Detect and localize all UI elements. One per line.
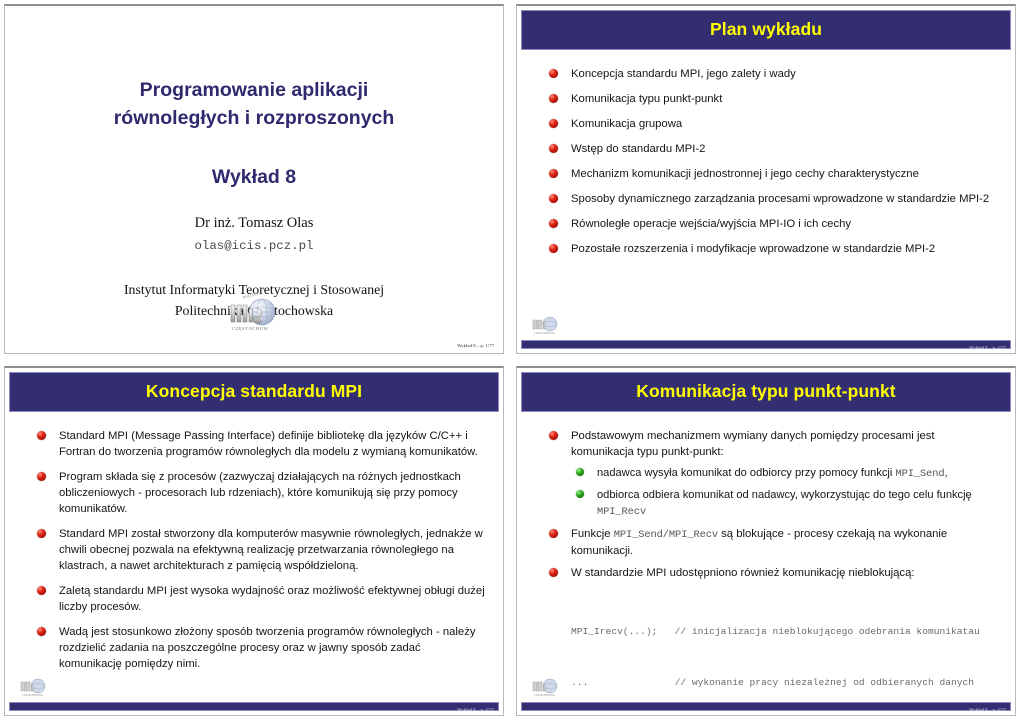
slide-body: Podstawowym mechanizmem wymiany danych p…	[517, 412, 1015, 691]
list-item-text: Wadą jest stosunkowo złożony sposób twor…	[59, 626, 476, 670]
iitis-logo-icon: CZĘSTOCHOW POLITECHNIKA	[222, 293, 286, 339]
list-item-text: Standard MPI został stworzony dla komput…	[59, 528, 483, 572]
list-item: Funkcje MPI_Send/MPI_Recv są blokujące -…	[543, 526, 997, 559]
slide-body: Standard MPI (Message Passing Interface)…	[5, 412, 503, 691]
red-sphere-bullet-icon	[549, 94, 558, 103]
red-sphere-bullet-icon	[549, 169, 558, 178]
code-line: ... // wykonanie pracy niezależnej od od…	[571, 674, 997, 691]
slide-footer-3: Wykład 8 – p. 3/77	[457, 707, 494, 712]
list-item: Komunikacja grupowa	[543, 116, 997, 132]
sub-list-item: nadawca wysyła komunikat do odbiorcy prz…	[571, 465, 997, 482]
sub-item-suffix: ,	[945, 467, 948, 479]
list-item-text: Sposoby dynamicznego zarządzania procesa…	[571, 193, 989, 205]
list-item-prefix: Funkcje	[571, 528, 614, 540]
red-sphere-bullet-icon	[549, 568, 558, 577]
svg-text:POLITECHNIKA: POLITECHNIKA	[242, 293, 273, 300]
red-sphere-bullet-icon	[549, 194, 558, 203]
list-item: Wstęp do standardu MPI-2	[543, 141, 997, 157]
list-item: Podstawowym mechanizmem wymiany danych p…	[543, 428, 997, 520]
sub-list-item: odbiorca odbiera komunikat od nadawcy, w…	[571, 487, 997, 520]
list-item: Mechanizm komunikacji jednostronnej i je…	[543, 166, 997, 182]
list-item: Wadą jest stosunkowo złożony sposób twor…	[31, 624, 485, 672]
slide-footer-bar	[521, 702, 1011, 711]
list-item: Równoległe operacje wejścia/wyjścia MPI-…	[543, 216, 997, 232]
slide-footer-bar	[9, 702, 499, 711]
slide-punkt-punkt[interactable]: Komunikacja typu punkt-punkt Podstawowym…	[516, 366, 1016, 716]
list-item: Koncepcja standardu MPI, jego zalety i w…	[543, 66, 997, 82]
list-item: Komunikacja typu punkt-punkt	[543, 91, 997, 107]
title-line-1: Programowanie aplikacji	[45, 76, 463, 104]
sub-item-text: odbiorca odbiera komunikat od nadawcy, w…	[597, 489, 972, 501]
list-item-text: Program składa się z procesów (zazwyczaj…	[59, 471, 461, 515]
slide-body: Koncepcja standardu MPI, jego zalety i w…	[517, 50, 1015, 329]
red-sphere-bullet-icon	[549, 69, 558, 78]
slide-footer-bar	[521, 340, 1011, 349]
svg-text:CZĘSTOCHOW: CZĘSTOCHOW	[232, 326, 268, 331]
list-item-text: W standardzie MPI udostępniono również k…	[571, 567, 915, 579]
iitis-logo-icon: CZĘSTOCHOWA	[529, 315, 563, 337]
title-line-2: równoległych i rozproszonych	[45, 104, 463, 132]
bullet-list: Standard MPI (Message Passing Interface)…	[31, 428, 485, 672]
list-item: Sposoby dynamicznego zarządzania procesa…	[543, 191, 997, 207]
slide-footer-2: Wykład 8 – p. 2/77	[969, 345, 1006, 350]
red-sphere-bullet-icon	[549, 244, 558, 253]
slide-header-bar: Koncepcja standardu MPI	[9, 372, 499, 412]
list-item-text: Standard MPI (Message Passing Interface)…	[59, 430, 478, 458]
slide-title[interactable]: Programowanie aplikacji równoległych i r…	[4, 4, 504, 354]
slide-footer-1: Wykład 8 – p. 1/77	[457, 343, 494, 348]
slide-cell-3: Koncepcja standardu MPI Standard MPI (Me…	[0, 362, 512, 724]
list-item-text: Pozostałe rozszerzenia i modyfikacje wpr…	[571, 243, 935, 255]
svg-text:CZĘSTOCHOWA: CZĘSTOCHOWA	[22, 694, 43, 697]
red-sphere-bullet-icon	[37, 586, 46, 595]
list-item-text: Mechanizm komunikacji jednostronnej i je…	[571, 168, 919, 180]
red-sphere-bullet-icon	[37, 431, 46, 440]
list-item: Pozostałe rozszerzenia i modyfikacje wpr…	[543, 241, 997, 257]
slide-koncepcja[interactable]: Koncepcja standardu MPI Standard MPI (Me…	[4, 366, 504, 716]
iitis-logo-icon: CZĘSTOCHOWA	[17, 677, 51, 699]
list-item-text: Podstawowym mechanizmem wymiany danych p…	[571, 430, 935, 458]
list-item-text: Komunikacja grupowa	[571, 118, 682, 130]
code-mpi-send: MPI_Send	[895, 468, 944, 480]
code-mpi-recv: MPI_Recv	[597, 506, 646, 518]
slide-header-bar: Komunikacja typu punkt-punkt	[521, 372, 1011, 412]
svg-text:CZĘSTOCHOWA: CZĘSTOCHOWA	[534, 694, 555, 697]
list-item-text: Równoległe operacje wejścia/wyjścia MPI-…	[571, 218, 851, 230]
code-line: MPI_Irecv(...); // inicjalizacja nieblok…	[571, 623, 997, 640]
bullet-list: Podstawowym mechanizmem wymiany danych p…	[543, 428, 997, 581]
red-sphere-bullet-icon	[549, 529, 558, 538]
list-item: Zaletą standardu MPI jest wysoka wydajno…	[31, 583, 485, 615]
slide-header-title: Komunikacja typu punkt-punkt	[636, 383, 895, 401]
slide-footer-4: Wykład 8 – p. 4/77	[969, 707, 1006, 712]
slide-header-title: Koncepcja standardu MPI	[146, 383, 362, 401]
green-sphere-bullet-icon	[576, 468, 584, 476]
sub-bullet-list: nadawca wysyła komunikat do odbiorcy prz…	[571, 465, 997, 520]
list-item: Program składa się z procesów (zazwyczaj…	[31, 469, 485, 517]
svg-text:CZĘSTOCHOWA: CZĘSTOCHOWA	[534, 332, 555, 335]
slide-header-bar: Plan wykładu	[521, 10, 1011, 50]
author-email[interactable]: olas@icis.pcz.pl	[45, 239, 463, 253]
red-sphere-bullet-icon	[549, 431, 558, 440]
red-sphere-bullet-icon	[37, 472, 46, 481]
list-item-text: Wstęp do standardu MPI-2	[571, 143, 705, 155]
sub-item-text: nadawca wysyła komunikat do odbiorcy prz…	[597, 467, 895, 479]
list-item: Standard MPI (Message Passing Interface)…	[31, 428, 485, 460]
slide-cell-1: Programowanie aplikacji równoległych i r…	[0, 0, 512, 362]
green-sphere-bullet-icon	[576, 490, 584, 498]
list-item: W standardzie MPI udostępniono również k…	[543, 565, 997, 581]
red-sphere-bullet-icon	[37, 529, 46, 538]
iitis-logo-icon: CZĘSTOCHOWA	[529, 677, 563, 699]
slide-cell-2: Plan wykładu Koncepcja standardu MPI, je…	[512, 0, 1024, 362]
list-item: Standard MPI został stworzony dla komput…	[31, 526, 485, 574]
slide-header-title: Plan wykładu	[710, 21, 822, 39]
red-sphere-bullet-icon	[549, 219, 558, 228]
code-block: MPI_Irecv(...); // inicjalizacja nieblok…	[571, 589, 997, 716]
red-sphere-bullet-icon	[549, 144, 558, 153]
slide-cell-4: Komunikacja typu punkt-punkt Podstawowym…	[512, 362, 1024, 724]
code-mpi-send-recv: MPI_Send/MPI_Recv	[614, 529, 718, 541]
bullet-list: Koncepcja standardu MPI, jego zalety i w…	[543, 66, 997, 257]
slide-handout-sheet: Programowanie aplikacji równoległych i r…	[0, 0, 1024, 724]
list-item-text: Komunikacja typu punkt-punkt	[571, 93, 722, 105]
list-item-text: Zaletą standardu MPI jest wysoka wydajno…	[59, 585, 485, 613]
list-item-text: Koncepcja standardu MPI, jego zalety i w…	[571, 68, 796, 80]
red-sphere-bullet-icon	[549, 119, 558, 128]
author-name: Dr inż. Tomasz Olas	[45, 215, 463, 232]
slide-plan[interactable]: Plan wykładu Koncepcja standardu MPI, je…	[516, 4, 1016, 354]
lecture-number: Wykład 8	[45, 166, 463, 189]
red-sphere-bullet-icon	[37, 627, 46, 636]
page-title: Programowanie aplikacji równoległych i r…	[45, 76, 463, 133]
